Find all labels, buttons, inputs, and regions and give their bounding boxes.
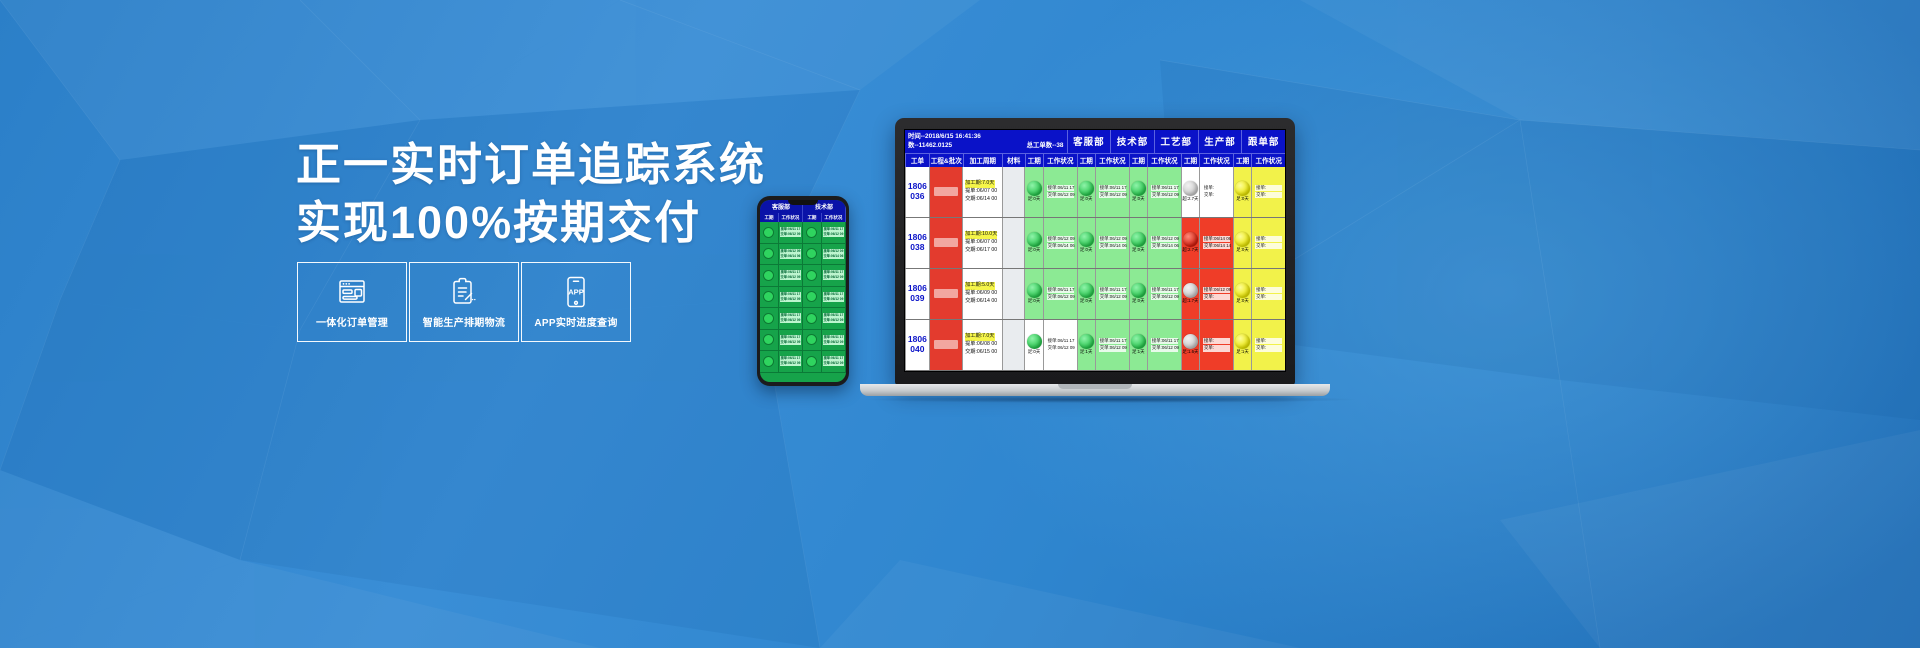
cell-project-batch	[929, 269, 962, 319]
status-bulb-icon	[1131, 232, 1146, 247]
phone-status-text-cell: 接单:06/11 17交单:06/12 09	[779, 265, 803, 286]
phone-status-dot-cell	[803, 244, 822, 265]
cell-work-status: 接单:06/12 09交单:06/14 06	[1043, 218, 1077, 268]
col-duration: 工期	[1233, 153, 1251, 167]
laptop-lid: 时间--2018/6/15 16:41:36 数--11462.0125 总工单…	[895, 118, 1295, 385]
svg-text:APP: APP	[568, 287, 584, 296]
dashboard-layout-icon	[337, 276, 367, 308]
work-status-tag: 接单:	[1255, 338, 1282, 344]
cell-duration-indicator: 足:1天	[1077, 320, 1095, 370]
cell-duration-indicator: 足:0天	[1233, 269, 1251, 319]
cycle-line: 加工期:5.0天	[965, 282, 994, 290]
phone-status-dot-cell	[760, 244, 779, 265]
cell-work-status: 接单:06/12 09交单:06/14 06	[1095, 218, 1129, 268]
status-dot-icon	[763, 334, 774, 345]
cell-duration-indicator: 足:0天	[1077, 218, 1095, 268]
laptop-mockup: 时间--2018/6/15 16:41:36 数--11462.0125 总工单…	[860, 118, 1330, 403]
cycle-line: 交期:06/15 00	[965, 349, 997, 357]
col-duration: 工期	[1077, 153, 1095, 167]
status-dot-icon	[806, 270, 817, 281]
phone-status-dot-cell	[760, 351, 779, 372]
phone-column-header: 工期 工作状况 工期 工作状况	[760, 213, 846, 222]
laptop-shadow	[860, 396, 1360, 403]
cell-work-status: 接单:06/11 17交单:06/12 09	[1147, 269, 1181, 319]
status-dot-icon	[806, 313, 817, 324]
phone-status-text-cell: 接单:06/11 17交单:06/12 09	[822, 351, 846, 372]
status-bulb-icon	[1027, 181, 1042, 196]
cell-duration-indicator: 足:0天	[1233, 167, 1251, 217]
cell-work-status: 接单:06/11 17交单:06/12 09	[1043, 269, 1077, 319]
phone-status-text-cell: 接单:06/11 17交单:06/12 09	[822, 330, 846, 351]
cell-work-status: 接单:交单:	[1251, 269, 1285, 319]
phone-row[interactable]: 接单:06/11 17交单:06/12 09接单:06/11 17交单:06/1…	[760, 265, 846, 287]
phone-notch	[788, 200, 818, 205]
phone-status-tag: 交单:06/12 09	[780, 340, 802, 345]
col-status: 工作状况	[1043, 153, 1077, 167]
cell-project-batch	[929, 167, 962, 217]
work-status-tag: 接单:06/11 17	[1047, 287, 1074, 293]
phone-col-label: 工期	[760, 213, 779, 222]
cell-work-status: 接单:06/11 17交单:06/12 09	[1043, 167, 1077, 217]
duration-footer-label: 足:0天	[1132, 298, 1144, 304]
status-dot-icon	[763, 313, 774, 324]
cell-duration-indicator: 超:2.7天	[1181, 218, 1199, 268]
cell-duration-indicator: 超:2.7天	[1181, 167, 1199, 217]
cell-order-number: 1806038	[905, 218, 929, 268]
cell-duration-indicator: 足:0天	[1129, 167, 1147, 217]
dashboard-column-header: 工单 工程&批次 加工周期 材料 工期 工作状况 工期 工作状况 工期 工作状况…	[905, 153, 1285, 167]
phone-status-dot-cell	[760, 222, 779, 243]
duration-footer-label: 足:0天	[1080, 196, 1092, 202]
cell-work-status: 接单:交单:	[1199, 320, 1233, 370]
col-duration: 工期	[1025, 153, 1043, 167]
cell-work-status: 接单:06/12 09交单:06/14 06	[1147, 218, 1181, 268]
cell-duration-indicator: 足:0天	[1024, 320, 1042, 370]
cell-duration-indicator: 足:1.6天	[1181, 320, 1199, 370]
duration-footer-label: 足:0天	[1236, 196, 1248, 202]
hero-banner: 正一实时订单追踪系统 实现100%按期交付 一体化订单管理	[0, 0, 1920, 648]
phone-status-tag: 交单:06/12 09	[823, 318, 845, 323]
status-bulb-icon	[1079, 283, 1094, 298]
phone-status-tag: 交单:06/12 09	[780, 297, 802, 302]
duration-footer-label: 足:1天	[1132, 349, 1144, 355]
phone-col-label: 工作状况	[822, 213, 846, 222]
cell-material	[1002, 320, 1024, 370]
cell-duration-indicator: 超:1.7天	[1181, 269, 1199, 319]
work-status-tag: 交单:06/14 14	[1203, 243, 1230, 249]
cell-processing-cycle: 加工期:5.0天提单:06/09 00交期:06/14 00	[962, 269, 1002, 319]
work-status-tag: 交单:06/12 09	[1047, 192, 1074, 198]
work-status-tag: 接单:	[1255, 236, 1282, 242]
work-status-tag: 接单:06/11 17	[1151, 338, 1178, 344]
phone-row[interactable]: 接单:06/11 17交单:06/12 09接单:06/11 17交单:06/1…	[760, 287, 846, 309]
phone-status-dot-cell	[803, 351, 822, 372]
col-project: 工程&批次	[929, 153, 963, 167]
laptop-base	[860, 384, 1330, 396]
work-status-tag: 接单:06/12 09	[1099, 236, 1126, 242]
status-dot-icon	[763, 270, 774, 281]
duration-footer-label: 足:0天	[1028, 349, 1040, 355]
cell-work-status: 接单:06/11 17交单:06/12 09	[1043, 320, 1077, 370]
work-status-tag: 交单:	[1203, 294, 1230, 300]
status-bulb-icon	[1079, 334, 1094, 349]
laptop-screen: 时间--2018/6/15 16:41:36 数--11462.0125 总工单…	[904, 129, 1286, 372]
phone-status-tag: 交单:06/12 09	[823, 232, 845, 237]
phone-status-text-cell: 接单:06/11 17交单:06/12 09	[779, 351, 803, 372]
status-bulb-icon	[1027, 283, 1042, 298]
cycle-line: 提单:06/07 00	[965, 239, 997, 247]
dept-customer-service: 客服部	[1067, 130, 1111, 153]
cycle-line: 提单:06/09 00	[965, 290, 997, 298]
phone-status-tag: 交单:06/12 09	[780, 275, 802, 280]
mobile-app-icon: APP	[565, 276, 587, 308]
cell-duration-indicator: 足:1天	[1233, 320, 1251, 370]
order-line-2: 040	[910, 345, 924, 355]
status-bulb-icon	[1131, 181, 1146, 196]
work-status-tag: 交单:06/12 09	[1099, 192, 1126, 198]
phone-status-tag: 交单:06/12 09	[780, 318, 802, 323]
status-bulb-icon	[1183, 232, 1198, 247]
cycle-line: 交期:06/17 00	[965, 247, 997, 255]
duration-footer-label: 足:0天	[1028, 298, 1040, 304]
dashboard-row-list: 1806036加工期:7.0天提单:06/07 00交期:06/14 00足:0…	[905, 167, 1285, 371]
phone-status-dot-cell	[803, 330, 822, 351]
work-status-tag: 接单:06/11 17	[1151, 287, 1178, 293]
phone-row[interactable]: 接单:06/11 17交单:06/12 09接单:06/11 17交单:06/1…	[760, 330, 846, 352]
status-bulb-icon	[1079, 181, 1094, 196]
cell-work-status: 接单:06/11 17交单:06/12 09	[1095, 269, 1129, 319]
redacted-project-name	[934, 187, 957, 196]
phone-status-tag: 交单:06/14 06	[780, 254, 802, 259]
dept-follow-up: 跟单部	[1241, 130, 1285, 153]
cell-duration-indicator: 足:0天	[1129, 269, 1147, 319]
feature-box-order-management[interactable]: 一体化订单管理	[297, 262, 407, 342]
clipboard-schedule-icon	[450, 276, 478, 308]
phone-status-dot-cell	[803, 265, 822, 286]
dashboard-department-header: 客服部 技术部 工艺部 生产部 跟单部	[1067, 130, 1286, 153]
dept-process: 工艺部	[1154, 130, 1198, 153]
cell-material	[1002, 218, 1024, 268]
duration-footer-label: 足:0天	[1236, 247, 1248, 253]
work-status-tag: 交单:	[1255, 345, 1282, 351]
duration-footer-label: 足:0天	[1132, 247, 1144, 253]
work-status-tag: 接单:	[1255, 185, 1282, 191]
status-dot-icon	[806, 227, 817, 238]
phone-status-tag: 交单:06/14 06	[823, 254, 845, 259]
duration-footer-label: 超:2.7天	[1182, 196, 1198, 202]
cell-material	[1002, 167, 1024, 217]
work-status-tag: 交单:06/12 09	[1151, 345, 1178, 351]
order-line-2: 039	[910, 294, 924, 304]
phone-status-text-cell: 接单:06/11 17交单:06/12 09	[822, 222, 846, 243]
dashboard-topbar: 时间--2018/6/15 16:41:36 数--11462.0125 总工单…	[905, 130, 1285, 153]
status-dot-icon	[763, 248, 774, 259]
dept-production: 生产部	[1198, 130, 1242, 153]
cell-work-status: 接单:06/11 17交单:06/12 09	[1147, 167, 1181, 217]
duration-footer-label: 足:0天	[1080, 247, 1092, 253]
status-bulb-icon	[1131, 283, 1146, 298]
cell-duration-indicator: 足:0天	[1024, 167, 1042, 217]
phone-col-label: 工作状况	[779, 213, 803, 222]
col-status: 工作状况	[1147, 153, 1181, 167]
status-dot-icon	[806, 334, 817, 345]
redacted-project-name	[934, 340, 957, 349]
status-dot-icon	[806, 356, 817, 367]
phone-status-text-cell: 接单:06/11 17交单:06/12 09	[779, 308, 803, 329]
feature-label: 智能生产排期物流	[423, 314, 505, 329]
dept-technical: 技术部	[1110, 130, 1154, 153]
cell-work-status: 接单:06/14 06交单:06/14 14	[1199, 218, 1233, 268]
cell-duration-indicator: 足:0天	[1024, 218, 1042, 268]
duration-footer-label: 足:0天	[1132, 196, 1144, 202]
work-status-tag: 接单:06/12 09	[1047, 236, 1074, 242]
phone-status-tag: 交单:06/12 09	[823, 361, 845, 366]
phone-status-text-cell: 接单:06/11 17交单:06/12 09	[779, 222, 803, 243]
duration-footer-label: 超:1.7天	[1182, 298, 1198, 304]
cell-duration-indicator: 足:0天	[1024, 269, 1042, 319]
dashboard-time: 时间--2018/6/15 16:41:36	[908, 132, 1064, 141]
work-status-tag: 交单:	[1255, 294, 1282, 300]
feature-box-app-progress[interactable]: APP APP实时进度查询	[521, 262, 631, 342]
table-row[interactable]: 1806040加工期:7.0天提单:06/08 00交期:06/15 00足:0…	[905, 320, 1285, 371]
work-status-tag: 接单:06/11 17	[1047, 338, 1074, 344]
cell-work-status: 接单:交单:	[1199, 167, 1233, 217]
phone-status-dot-cell	[760, 265, 779, 286]
status-bulb-icon	[1183, 181, 1198, 196]
work-status-tag: 交单:06/12 09	[1047, 345, 1074, 351]
status-bulb-icon	[1131, 334, 1146, 349]
phone-status-text-cell: 接单:06/12 09交单:06/14 06	[779, 244, 803, 265]
work-status-tag: 接单:06/14 06	[1203, 236, 1230, 242]
order-line-2: 038	[910, 243, 924, 253]
cycle-line: 提单:06/07 00	[965, 188, 997, 196]
work-status-tag: 交单:06/14 06	[1047, 243, 1074, 249]
col-material: 材料	[1002, 153, 1025, 167]
status-bulb-icon	[1079, 232, 1094, 247]
col-status: 工作状况	[1251, 153, 1285, 167]
work-status-tag: 接单:06/11 17	[1099, 287, 1126, 293]
col-status: 工作状况	[1199, 153, 1233, 167]
cell-work-status: 接单:06/12 09交单:	[1199, 269, 1233, 319]
phone-row[interactable]: 接单:06/11 17交单:06/12 09接单:06/11 17交单:06/1…	[760, 222, 846, 244]
phone-status-tag: 交单:06/12 09	[780, 361, 802, 366]
work-status-tag: 交单:	[1255, 192, 1282, 198]
status-bulb-icon	[1235, 283, 1250, 298]
col-duration: 工期	[1181, 153, 1199, 167]
duration-footer-label: 足:0天	[1028, 247, 1040, 253]
status-bulb-icon	[1027, 232, 1042, 247]
work-status-tag: 接单:06/11 17	[1047, 185, 1074, 191]
work-status-tag: 交单:06/12 09	[1047, 294, 1074, 300]
phone-row[interactable]: 接单:06/11 17交单:06/12 09接单:06/11 17交单:06/1…	[760, 351, 846, 373]
phone-status-tag: 交单:06/12 09	[823, 275, 845, 280]
status-bulb-icon	[1183, 283, 1198, 298]
phone-status-tag: 交单:06/12 09	[780, 232, 802, 237]
phone-status-text-cell: 接单:06/11 17交单:06/12 09	[822, 287, 846, 308]
work-status-tag: 接单:06/11 17	[1099, 338, 1126, 344]
status-dot-icon	[806, 291, 817, 302]
work-status-tag: 交单:06/12 09	[1151, 192, 1178, 198]
cell-duration-indicator: 足:0天	[1077, 269, 1095, 319]
status-bulb-icon	[1235, 334, 1250, 349]
duration-footer-label: 足:1天	[1080, 349, 1092, 355]
cycle-line: 加工期:10.0天	[965, 231, 997, 239]
dashboard-total-orders: 总工单数--38	[1027, 141, 1064, 150]
work-status-tag: 接单:06/12 09	[1151, 236, 1178, 242]
status-dot-icon	[763, 356, 774, 367]
work-status-tag: 交单:06/12 09	[1099, 345, 1126, 351]
work-status-tag: 接单:06/11 17	[1099, 185, 1126, 191]
cell-work-status: 接单:06/11 17交单:06/12 09	[1095, 320, 1129, 370]
cell-processing-cycle: 加工期:7.0天提单:06/08 00交期:06/15 00	[962, 320, 1002, 370]
dashboard-count: 数--11462.0125	[908, 141, 952, 150]
feature-label: APP实时进度查询	[534, 314, 617, 329]
col-status: 工作状况	[1095, 153, 1129, 167]
work-status-tag: 交单:06/12 09	[1151, 294, 1178, 300]
feature-label: 一体化订单管理	[316, 314, 388, 329]
status-bulb-icon	[1183, 334, 1198, 349]
phone-status-dot-cell	[760, 308, 779, 329]
work-status-tag: 交单:06/14 06	[1151, 243, 1178, 249]
cell-duration-indicator: 足:0天	[1233, 218, 1251, 268]
duration-footer-label: 足:0天	[1236, 298, 1248, 304]
phone-row[interactable]: 接单:06/12 09交单:06/14 06接单:06/12 09交单:06/1…	[760, 244, 846, 266]
work-status-tag: 交单:	[1255, 243, 1282, 249]
cycle-line: 提单:06/08 00	[965, 341, 997, 349]
phone-status-tag: 交单:06/12 09	[823, 340, 845, 345]
phone-screen: 客服部 技术部 工期 工作状况 工期 工作状况 接单:06/11 17交单:06…	[760, 200, 846, 382]
order-tracking-dashboard: 时间--2018/6/15 16:41:36 数--11462.0125 总工单…	[905, 130, 1285, 371]
cell-processing-cycle: 加工期:7.0天提单:06/07 00交期:06/14 00	[962, 167, 1002, 217]
cell-work-status: 接单:交单:	[1251, 320, 1285, 370]
col-cycle: 加工周期	[963, 153, 1002, 167]
phone-status-dot-cell	[803, 287, 822, 308]
duration-footer-label: 足:0天	[1028, 196, 1040, 202]
cell-work-status: 接单:06/11 17交单:06/12 09	[1095, 167, 1129, 217]
phone-status-dot-cell	[760, 287, 779, 308]
work-status-tag: 接单:06/11 17	[1151, 185, 1178, 191]
cell-material	[1002, 269, 1024, 319]
cell-project-batch	[929, 320, 962, 370]
work-status-tag: 接单:	[1255, 287, 1282, 293]
phone-status-text-cell: 接单:06/11 17交单:06/12 09	[779, 287, 803, 308]
phone-status-dot-cell	[803, 308, 822, 329]
cell-order-number: 1806036	[905, 167, 929, 217]
phone-status-dot-cell	[760, 330, 779, 351]
status-dot-icon	[763, 291, 774, 302]
work-status-tag: 交单:06/14 06	[1099, 243, 1126, 249]
col-duration: 工期	[1129, 153, 1147, 167]
cell-order-number: 1806039	[905, 269, 929, 319]
cell-duration-indicator: 足:1天	[1129, 320, 1147, 370]
duration-footer-label: 足:0天	[1080, 298, 1092, 304]
order-line-2: 036	[910, 192, 924, 202]
status-dot-icon	[763, 227, 774, 238]
status-bulb-icon	[1235, 181, 1250, 196]
redacted-project-name	[934, 238, 957, 247]
cell-project-batch	[929, 218, 962, 268]
status-dot-icon	[806, 248, 817, 259]
headline-line-1: 正一实时订单追踪系统	[296, 136, 856, 194]
phone-status-text-cell: 接单:06/11 17交单:06/12 09	[822, 265, 846, 286]
duration-footer-label: 足:1.6天	[1182, 349, 1198, 355]
col-order: 工单	[905, 153, 929, 167]
table-row[interactable]: 1806036加工期:7.0天提单:06/07 00交期:06/14 00足:0…	[905, 167, 1285, 218]
cycle-line: 交期:06/14 00	[965, 298, 997, 306]
phone-row[interactable]: 接单:06/11 17交单:06/12 09接单:06/11 17交单:06/1…	[760, 308, 846, 330]
phone-col-label: 工期	[803, 213, 822, 222]
work-status-tag: 交单:06/12 09	[1099, 294, 1126, 300]
work-status-tag: 接单:	[1203, 185, 1230, 191]
cycle-line: 加工期:7.0天	[965, 333, 994, 341]
phone-status-text-cell: 接单:06/12 09交单:06/14 06	[822, 244, 846, 265]
phone-row-list: 接单:06/11 17交单:06/12 09接单:06/11 17交单:06/1…	[760, 222, 846, 373]
status-bulb-icon	[1235, 232, 1250, 247]
work-status-tag: 接单:06/12 09	[1203, 287, 1230, 293]
cell-work-status: 接单:06/11 17交单:06/12 09	[1147, 320, 1181, 370]
status-bulb-icon	[1027, 334, 1042, 349]
phone-status-text-cell: 接单:06/11 17交单:06/12 09	[822, 308, 846, 329]
table-row[interactable]: 1806038加工期:10.0天提单:06/07 00交期:06/17 00足:…	[905, 218, 1285, 269]
cycle-line: 加工期:7.0天	[965, 180, 994, 188]
cycle-line: 交期:06/14 00	[965, 196, 997, 204]
duration-footer-label: 超:2.7天	[1182, 247, 1198, 253]
phone-status-tag: 交单:06/12 09	[823, 297, 845, 302]
feature-box-production-scheduling[interactable]: 智能生产排期物流	[409, 262, 519, 342]
dashboard-meta: 时间--2018/6/15 16:41:36 数--11462.0125 总工单…	[905, 130, 1067, 153]
phone-status-dot-cell	[803, 222, 822, 243]
cell-processing-cycle: 加工期:10.0天提单:06/07 00交期:06/17 00	[962, 218, 1002, 268]
feature-box-list: 一体化订单管理 智能生产排期物流	[297, 262, 633, 342]
cell-order-number: 1806040	[905, 320, 929, 370]
duration-footer-label: 足:1天	[1236, 349, 1248, 355]
smartphone-mockup: 客服部 技术部 工期 工作状况 工期 工作状况 接单:06/11 17交单:06…	[757, 196, 849, 386]
cell-work-status: 接单:交单:	[1251, 167, 1285, 217]
cell-duration-indicator: 足:0天	[1129, 218, 1147, 268]
work-status-tag: 交单:	[1203, 192, 1230, 198]
work-status-tag: 交单:	[1203, 345, 1230, 351]
cell-work-status: 接单:交单:	[1251, 218, 1285, 268]
redacted-project-name	[934, 289, 957, 298]
table-row[interactable]: 1806039加工期:5.0天提单:06/09 00交期:06/14 00足:0…	[905, 269, 1285, 320]
phone-status-text-cell: 接单:06/11 17交单:06/12 09	[779, 330, 803, 351]
work-status-tag: 接单:	[1203, 338, 1230, 344]
cell-duration-indicator: 足:0天	[1077, 167, 1095, 217]
